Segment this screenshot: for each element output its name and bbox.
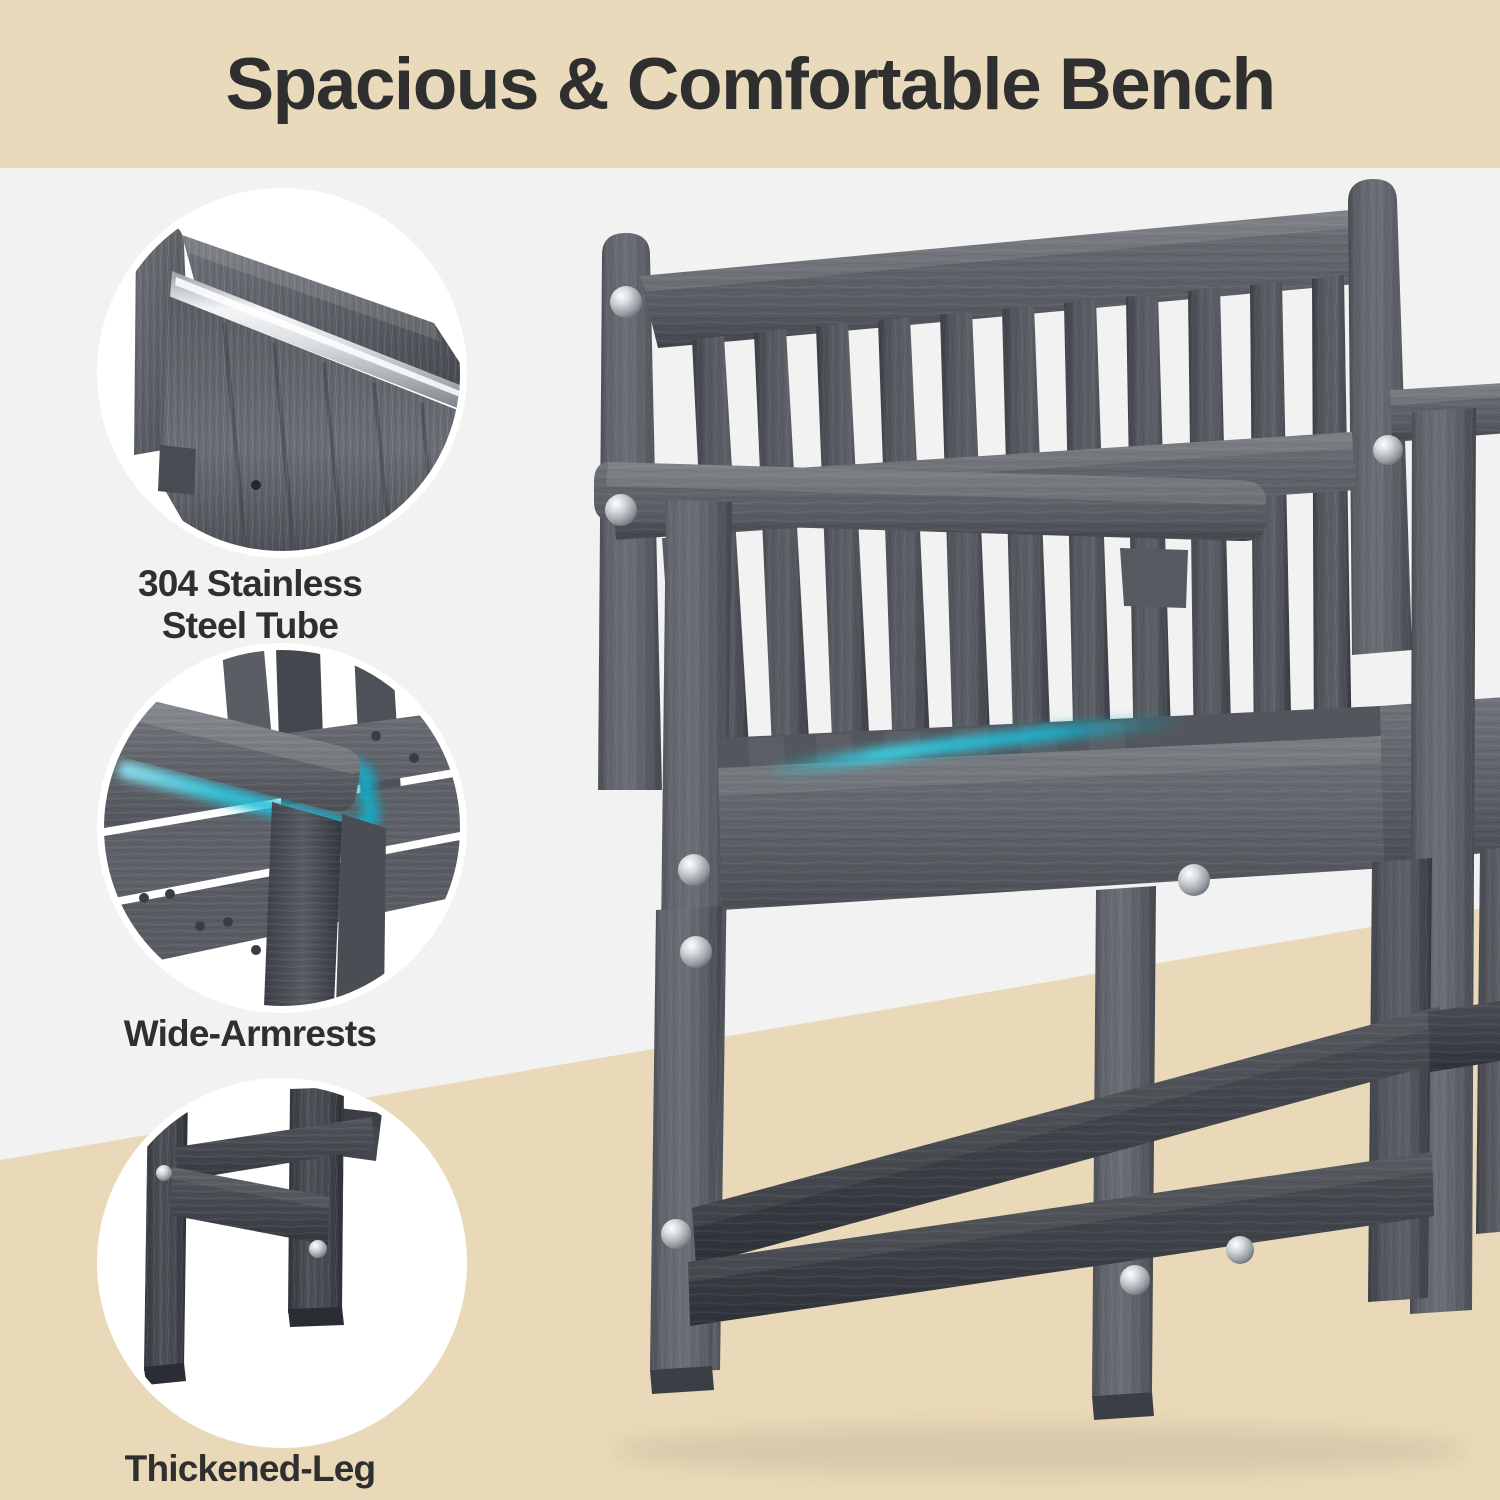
feature-callout-list: 304 Stainless Steel Tube bbox=[0, 168, 500, 1500]
callout-label-line-2: Steel Tube bbox=[162, 605, 338, 646]
callout-label-stainless-steel-tube: 304 Stainless Steel Tube bbox=[0, 563, 500, 647]
steel-tube-detail-photo bbox=[104, 195, 460, 551]
product-feature-image: Spacious & Comfortable Bench bbox=[0, 0, 1500, 1500]
callout-label-line-1: 304 Stainless bbox=[138, 563, 362, 604]
callout-label-wide-armrests: Wide-Armrests bbox=[0, 1013, 500, 1055]
header-banner: Spacious & Comfortable Bench bbox=[0, 0, 1500, 168]
leg-detail-photo bbox=[104, 1085, 460, 1441]
callout-label-thickened-leg: Thickened-Leg bbox=[0, 1448, 500, 1490]
bench-hero-image bbox=[480, 150, 1500, 1500]
bench-stretcher-horizontal bbox=[688, 1152, 1434, 1326]
armrest-detail-photo bbox=[104, 650, 460, 1006]
page-title: Spacious & Comfortable Bench bbox=[0, 0, 1500, 168]
